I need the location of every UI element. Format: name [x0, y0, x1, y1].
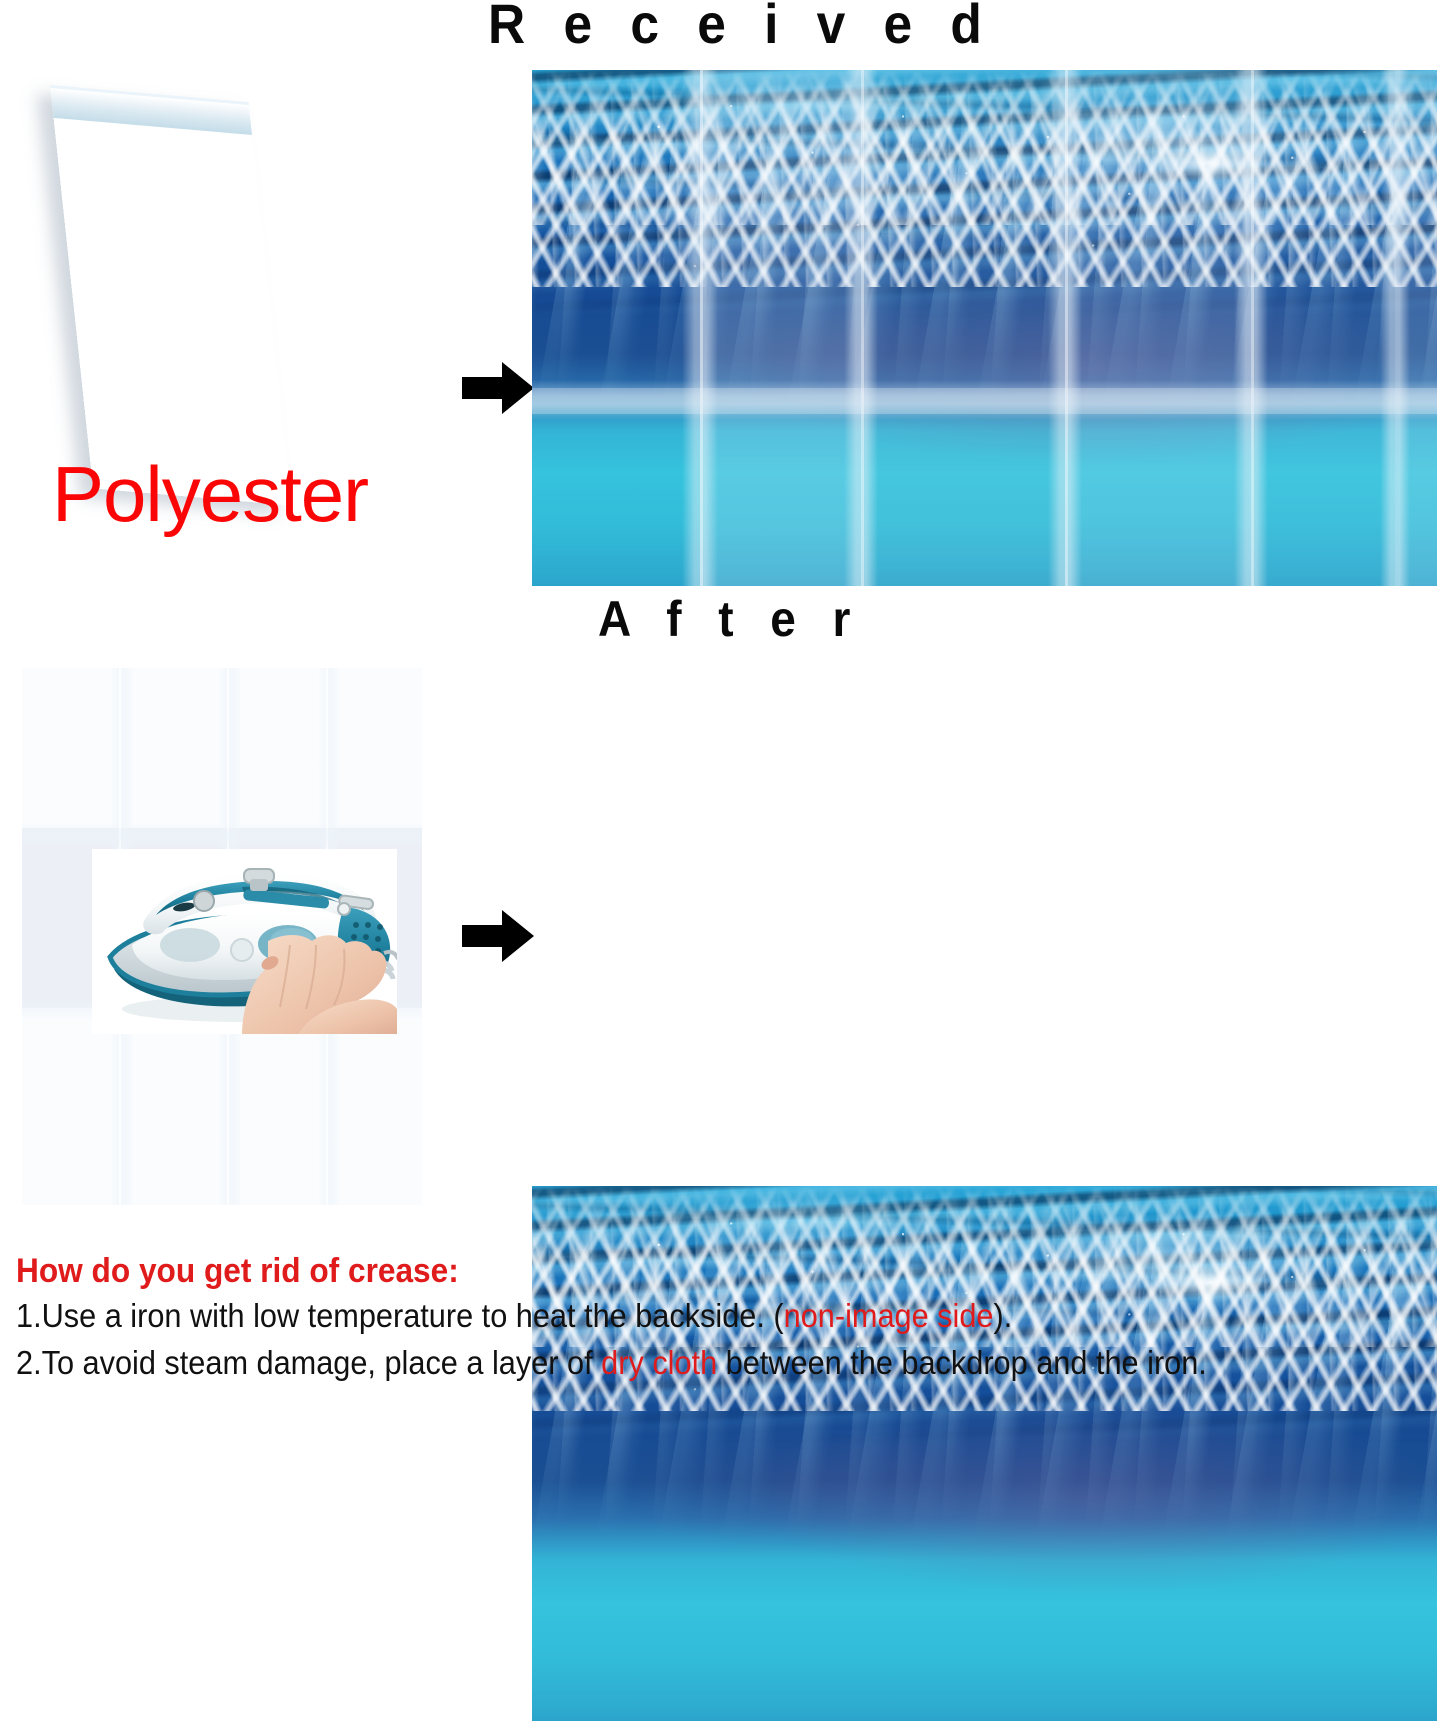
received-horizontal-fold-band [532, 388, 1437, 414]
instruction-2-highlight: dry cloth [601, 1344, 717, 1381]
instruction-1-prefix: 1.Use a iron with low temperature to hea… [16, 1297, 784, 1334]
instruction-1-highlight: non-image side [784, 1297, 994, 1334]
instruction-2-prefix: 2.To avoid steam damage, place a layer o… [16, 1344, 601, 1381]
instruction-line-1: 1.Use a iron with low temperature to hea… [16, 1295, 1335, 1338]
instructions-block: How do you get rid of crease: 1.Use a ir… [16, 1252, 1434, 1385]
instruction-2-suffix: between the backdrop and the iron. [717, 1344, 1207, 1381]
polyester-fabric-swatch [50, 85, 292, 506]
received-arrow [462, 360, 534, 421]
steam-iron-photo [92, 849, 397, 1034]
instruction-1-suffix: ). [993, 1297, 1012, 1334]
swatch-wash-overlay [50, 88, 291, 506]
after-arrow [462, 908, 534, 969]
instruction-line-2: 2.To avoid steam damage, place a layer o… [16, 1342, 1335, 1385]
polyester-swatch-container [10, 75, 430, 505]
instructions-title: How do you get rid of crease: [16, 1252, 1335, 1291]
received-fold-panels [532, 70, 1437, 586]
received-backdrop-image [532, 70, 1437, 586]
right-arrow-icon [462, 908, 534, 964]
right-arrow-icon [462, 360, 534, 416]
material-label: Polyester [52, 455, 368, 533]
steam-iron-icon [92, 849, 397, 1034]
received-heading: R e c e i v e d [488, 0, 994, 52]
after-heading: A f t e r [598, 594, 862, 644]
ironing-tint-upper [22, 668, 422, 828]
